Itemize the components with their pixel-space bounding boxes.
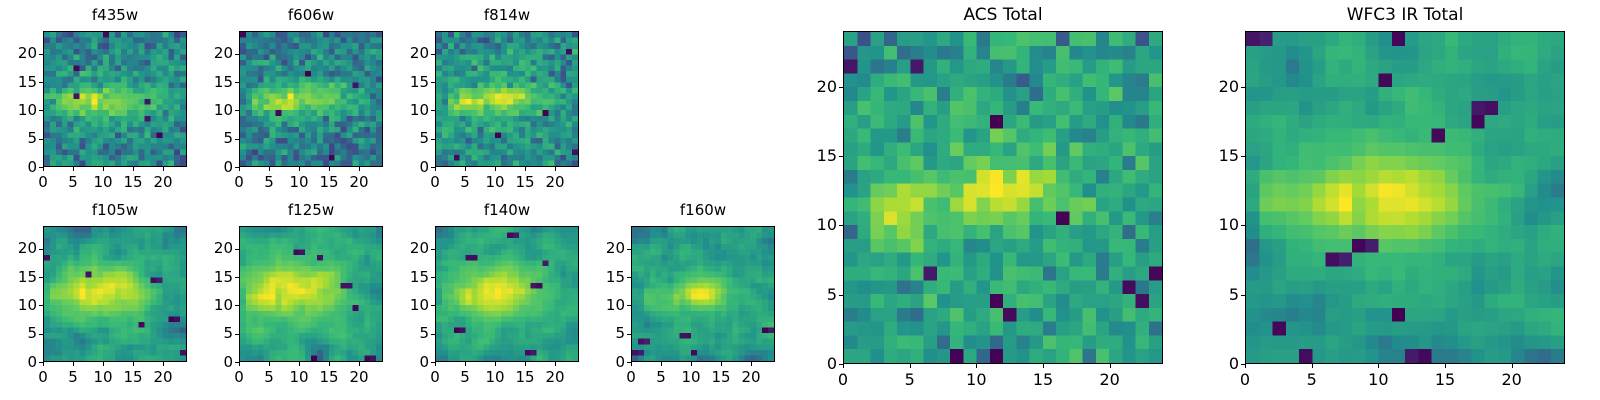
y-tick-mark	[431, 167, 435, 168]
y-tick-label: 5	[187, 324, 233, 342]
y-tick-label: 20	[791, 77, 837, 96]
panel-title: f140w	[435, 201, 579, 219]
y-tick-label: 0	[1193, 354, 1239, 373]
y-tick-label: 5	[0, 129, 37, 147]
y-tick-label: 0	[187, 158, 233, 176]
y-tick-label: 0	[579, 353, 625, 371]
x-tick-label: 5	[890, 370, 930, 389]
panel-title: WFC3 IR Total	[1245, 5, 1565, 25]
y-tick-mark	[235, 82, 239, 83]
y-tick-label: 15	[0, 268, 37, 286]
x-tick-mark	[359, 167, 360, 171]
y-tick-mark	[839, 156, 843, 157]
x-tick-mark	[435, 167, 436, 171]
x-tick-mark	[691, 362, 692, 366]
y-tick-label: 0	[383, 353, 429, 371]
x-tick-mark	[910, 364, 911, 368]
y-tick-label: 15	[383, 268, 429, 286]
x-tick-label: 10	[1358, 370, 1398, 389]
y-tick-mark	[235, 167, 239, 168]
y-tick-mark	[235, 249, 239, 250]
x-tick-label: 20	[143, 173, 183, 191]
x-tick-label: 20	[143, 368, 183, 386]
y-tick-mark	[235, 110, 239, 111]
y-tick-mark	[431, 139, 435, 140]
x-tick-label: 10	[956, 370, 996, 389]
y-tick-label: 15	[791, 146, 837, 165]
y-tick-mark	[39, 305, 43, 306]
x-tick-mark	[495, 167, 496, 171]
x-tick-label: 15	[1023, 370, 1063, 389]
heatmap-image	[239, 226, 383, 362]
y-tick-mark	[627, 362, 631, 363]
y-tick-mark	[1241, 87, 1245, 88]
y-tick-label: 10	[579, 296, 625, 314]
y-tick-mark	[431, 334, 435, 335]
y-tick-label: 20	[187, 239, 233, 257]
heatmap-image	[843, 31, 1163, 364]
y-tick-label: 20	[0, 239, 37, 257]
x-tick-mark	[103, 362, 104, 366]
y-tick-mark	[39, 54, 43, 55]
y-tick-label: 20	[187, 44, 233, 62]
y-tick-mark	[431, 110, 435, 111]
panel-title: f435w	[43, 6, 187, 24]
x-tick-label: 20	[1090, 370, 1130, 389]
y-tick-mark	[235, 362, 239, 363]
y-tick-label: 10	[791, 215, 837, 234]
y-tick-mark	[39, 362, 43, 363]
panel-title: f125w	[239, 201, 383, 219]
x-tick-mark	[976, 364, 977, 368]
y-tick-mark	[1241, 364, 1245, 365]
heatmap-image	[435, 31, 579, 167]
x-tick-mark	[239, 362, 240, 366]
heatmap-pixels	[240, 32, 382, 166]
x-tick-mark	[1378, 364, 1379, 368]
y-tick-label: 5	[187, 129, 233, 147]
y-tick-mark	[235, 54, 239, 55]
x-tick-mark	[269, 362, 270, 366]
y-tick-label: 20	[383, 44, 429, 62]
x-tick-mark	[1445, 364, 1446, 368]
y-tick-mark	[627, 249, 631, 250]
y-tick-label: 15	[1193, 146, 1239, 165]
heatmap-pixels	[436, 227, 578, 361]
x-tick-mark	[163, 362, 164, 366]
y-tick-mark	[627, 334, 631, 335]
y-tick-label: 0	[791, 354, 837, 373]
x-tick-mark	[43, 362, 44, 366]
x-tick-mark	[359, 362, 360, 366]
y-tick-label: 0	[383, 158, 429, 176]
y-tick-mark	[235, 277, 239, 278]
y-tick-mark	[39, 82, 43, 83]
y-tick-label: 5	[0, 324, 37, 342]
x-tick-mark	[1245, 364, 1246, 368]
x-tick-mark	[163, 167, 164, 171]
y-tick-label: 0	[0, 158, 37, 176]
heatmap-pixels	[1246, 32, 1564, 363]
y-tick-label: 5	[579, 324, 625, 342]
y-tick-label: 10	[383, 101, 429, 119]
y-tick-label: 20	[1193, 77, 1239, 96]
x-tick-label: 5	[1292, 370, 1332, 389]
y-tick-mark	[1241, 156, 1245, 157]
y-tick-mark	[1241, 295, 1245, 296]
y-tick-mark	[39, 277, 43, 278]
y-tick-mark	[431, 362, 435, 363]
heatmap-pixels	[240, 227, 382, 361]
y-tick-label: 20	[383, 239, 429, 257]
y-tick-label: 5	[791, 285, 837, 304]
y-tick-mark	[39, 110, 43, 111]
y-tick-mark	[627, 305, 631, 306]
x-tick-mark	[103, 167, 104, 171]
x-tick-mark	[525, 362, 526, 366]
x-tick-label: 20	[1492, 370, 1532, 389]
x-tick-mark	[555, 362, 556, 366]
x-tick-mark	[751, 362, 752, 366]
heatmap-image	[631, 226, 775, 362]
x-tick-mark	[435, 362, 436, 366]
heatmap-pixels	[632, 227, 774, 361]
y-tick-label: 5	[383, 324, 429, 342]
panel-title: f105w	[43, 201, 187, 219]
y-tick-label: 15	[579, 268, 625, 286]
y-tick-mark	[39, 167, 43, 168]
y-tick-mark	[235, 334, 239, 335]
heatmap-image	[435, 226, 579, 362]
y-tick-label: 10	[187, 296, 233, 314]
panel-title: f606w	[239, 6, 383, 24]
x-tick-mark	[269, 167, 270, 171]
y-tick-label: 15	[0, 73, 37, 91]
heatmap-image	[239, 31, 383, 167]
y-tick-label: 5	[1193, 285, 1239, 304]
x-tick-label: 20	[535, 368, 575, 386]
y-tick-mark	[39, 249, 43, 250]
y-tick-label: 10	[0, 101, 37, 119]
y-tick-label: 10	[0, 296, 37, 314]
x-tick-label: 20	[339, 173, 379, 191]
heatmap-image	[43, 226, 187, 362]
x-tick-mark	[1043, 364, 1044, 368]
x-tick-label: 20	[731, 368, 771, 386]
x-tick-mark	[465, 362, 466, 366]
x-tick-mark	[133, 167, 134, 171]
x-tick-mark	[329, 362, 330, 366]
y-tick-label: 5	[383, 129, 429, 147]
x-tick-mark	[465, 167, 466, 171]
x-tick-mark	[721, 362, 722, 366]
x-tick-mark	[631, 362, 632, 366]
x-tick-mark	[329, 167, 330, 171]
y-tick-label: 10	[383, 296, 429, 314]
panel-title: f160w	[631, 201, 775, 219]
x-tick-label: 15	[1425, 370, 1465, 389]
y-tick-label: 0	[0, 353, 37, 371]
y-tick-mark	[839, 225, 843, 226]
y-tick-mark	[1241, 225, 1245, 226]
y-tick-label: 15	[187, 268, 233, 286]
y-tick-label: 15	[383, 73, 429, 91]
x-tick-mark	[555, 167, 556, 171]
heatmap-image	[43, 31, 187, 167]
y-tick-mark	[431, 305, 435, 306]
x-tick-mark	[73, 362, 74, 366]
x-tick-mark	[495, 362, 496, 366]
x-tick-label: 20	[339, 368, 379, 386]
y-tick-mark	[839, 364, 843, 365]
x-tick-mark	[299, 362, 300, 366]
x-tick-mark	[43, 167, 44, 171]
heatmap-pixels	[436, 32, 578, 166]
x-tick-mark	[843, 364, 844, 368]
y-tick-mark	[431, 82, 435, 83]
x-tick-mark	[1110, 364, 1111, 368]
x-tick-mark	[239, 167, 240, 171]
y-tick-mark	[39, 139, 43, 140]
y-tick-label: 10	[187, 101, 233, 119]
y-tick-mark	[235, 139, 239, 140]
x-tick-mark	[525, 167, 526, 171]
x-tick-mark	[1312, 364, 1313, 368]
y-tick-mark	[839, 295, 843, 296]
x-tick-mark	[299, 167, 300, 171]
y-tick-mark	[235, 305, 239, 306]
x-tick-mark	[661, 362, 662, 366]
heatmap-pixels	[844, 32, 1162, 363]
heatmap-image	[1245, 31, 1565, 364]
panel-title: f814w	[435, 6, 579, 24]
y-tick-mark	[431, 54, 435, 55]
y-tick-label: 15	[187, 73, 233, 91]
panel-title: ACS Total	[843, 5, 1163, 25]
x-tick-mark	[133, 362, 134, 366]
heatmap-pixels	[44, 227, 186, 361]
y-tick-mark	[839, 87, 843, 88]
y-tick-label: 20	[579, 239, 625, 257]
y-tick-label: 0	[187, 353, 233, 371]
y-tick-mark	[431, 277, 435, 278]
x-tick-label: 20	[535, 173, 575, 191]
y-tick-mark	[431, 249, 435, 250]
x-tick-mark	[73, 167, 74, 171]
y-tick-mark	[627, 277, 631, 278]
x-tick-mark	[1512, 364, 1513, 368]
y-tick-mark	[39, 334, 43, 335]
y-tick-label: 10	[1193, 215, 1239, 234]
y-tick-label: 20	[0, 44, 37, 62]
heatmap-pixels	[44, 32, 186, 166]
